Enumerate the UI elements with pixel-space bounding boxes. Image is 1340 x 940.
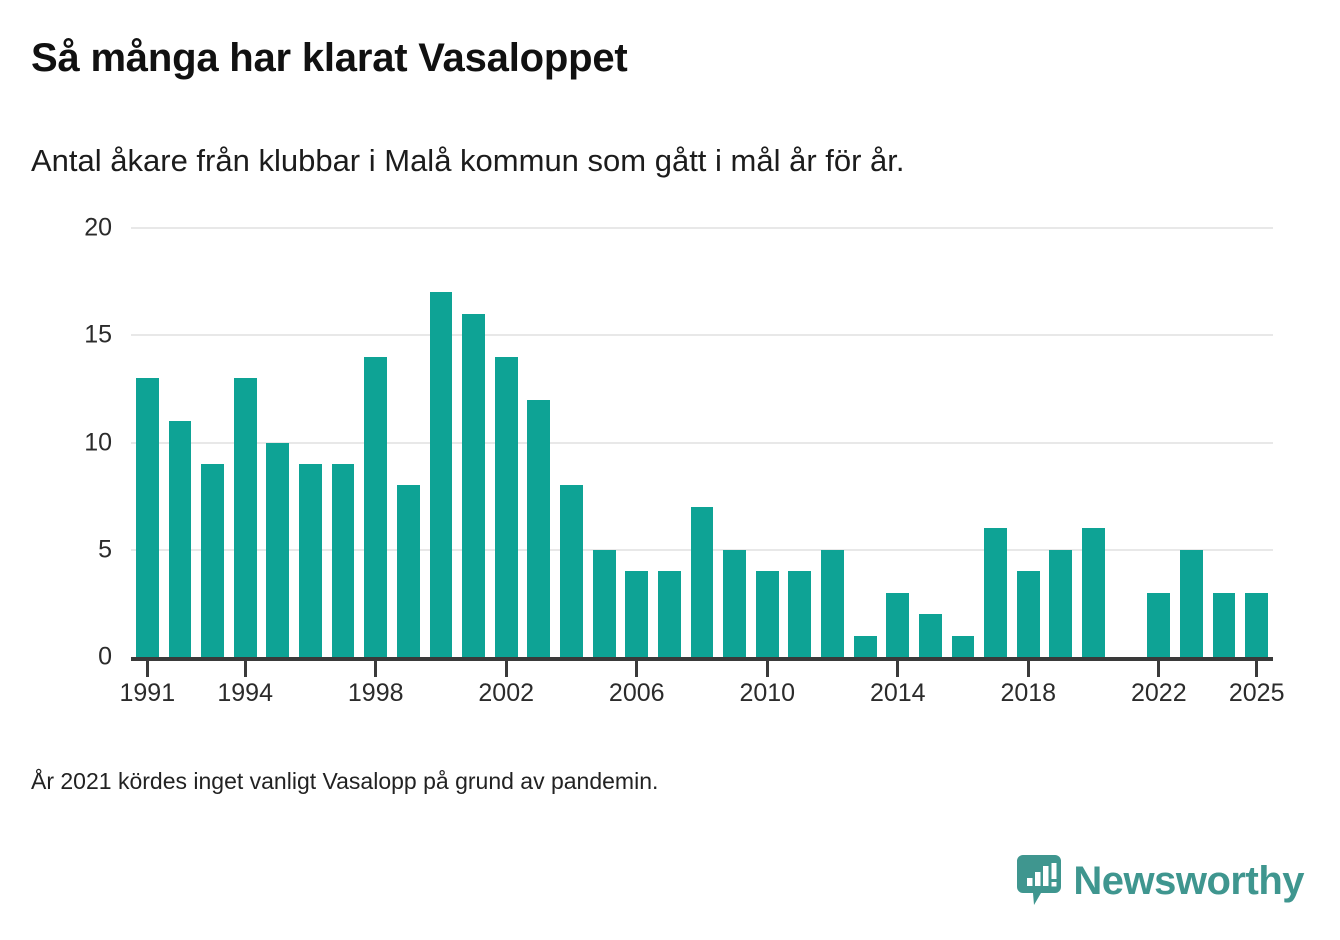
bar xyxy=(234,378,257,657)
bar xyxy=(397,485,420,657)
newsworthy-logo: Newsworthy xyxy=(1017,855,1304,907)
x-axis-tick xyxy=(244,660,247,677)
x-axis-tick-label: 2002 xyxy=(478,679,534,708)
x-axis: 1991199419982002200620102014201820222025 xyxy=(131,657,1273,717)
speech-bubble-bar-chart-icon xyxy=(1017,855,1061,907)
bar xyxy=(723,550,746,657)
x-axis-tick xyxy=(896,660,899,677)
bar xyxy=(854,636,877,657)
x-axis-tick-label: 1998 xyxy=(348,679,404,708)
y-axis-tick-label: 10 xyxy=(48,428,112,457)
bar xyxy=(1180,550,1203,657)
x-axis-tick xyxy=(146,660,149,677)
bar xyxy=(332,464,355,657)
bar xyxy=(136,378,159,657)
x-axis-tick-label: 2010 xyxy=(739,679,795,708)
bar xyxy=(560,485,583,657)
chart-footnote: År 2021 kördes inget vanligt Vasalopp på… xyxy=(31,768,658,795)
bar xyxy=(788,571,811,657)
bar xyxy=(364,357,387,657)
x-axis-tick xyxy=(1157,660,1160,677)
x-axis-tick-label: 2006 xyxy=(609,679,665,708)
bar xyxy=(266,443,289,658)
bar xyxy=(201,464,224,657)
x-axis-tick xyxy=(374,660,377,677)
bar xyxy=(1017,571,1040,657)
bar xyxy=(169,421,192,657)
x-axis-tick-label: 2018 xyxy=(1000,679,1056,708)
bar xyxy=(658,571,681,657)
bar xyxy=(495,357,518,657)
x-axis-tick-label: 2022 xyxy=(1131,679,1187,708)
bar xyxy=(1049,550,1072,657)
bar xyxy=(691,507,714,657)
x-axis-tick xyxy=(635,660,638,677)
bar xyxy=(625,571,648,657)
bar xyxy=(952,636,975,657)
bar xyxy=(430,292,453,657)
y-axis-tick-label: 5 xyxy=(48,535,112,564)
page-title: Så många har klarat Vasaloppet xyxy=(31,36,627,80)
x-axis-tick xyxy=(505,660,508,677)
bar-series xyxy=(131,228,1273,657)
x-axis-tick xyxy=(1255,660,1258,677)
y-axis-tick-label: 0 xyxy=(48,643,112,672)
x-axis-tick-label: 1994 xyxy=(217,679,273,708)
bar xyxy=(756,571,779,657)
x-axis-tick xyxy=(1027,660,1030,677)
x-axis-tick-label: 1991 xyxy=(120,679,176,708)
bar xyxy=(886,593,909,657)
logo-wordmark: Newsworthy xyxy=(1073,861,1304,901)
x-axis-tick-label: 2025 xyxy=(1229,679,1285,708)
bar xyxy=(919,614,942,657)
chart-subtitle: Antal åkare från klubbar i Malå kommun s… xyxy=(31,143,905,179)
bar xyxy=(593,550,616,657)
chart-page: Så många har klarat Vasaloppet Antal åka… xyxy=(0,0,1340,940)
bar xyxy=(821,550,844,657)
x-axis-tick-label: 2014 xyxy=(870,679,926,708)
y-axis: 05101520 xyxy=(48,228,112,657)
bar xyxy=(1213,593,1236,657)
y-axis-tick-label: 15 xyxy=(48,321,112,350)
bar xyxy=(299,464,322,657)
y-axis-tick-label: 20 xyxy=(48,214,112,243)
bar xyxy=(462,314,485,657)
bar xyxy=(1245,593,1268,657)
x-axis-tick xyxy=(766,660,769,677)
bar xyxy=(527,400,550,657)
bar xyxy=(1147,593,1170,657)
bar xyxy=(1082,528,1105,657)
bar xyxy=(984,528,1007,657)
